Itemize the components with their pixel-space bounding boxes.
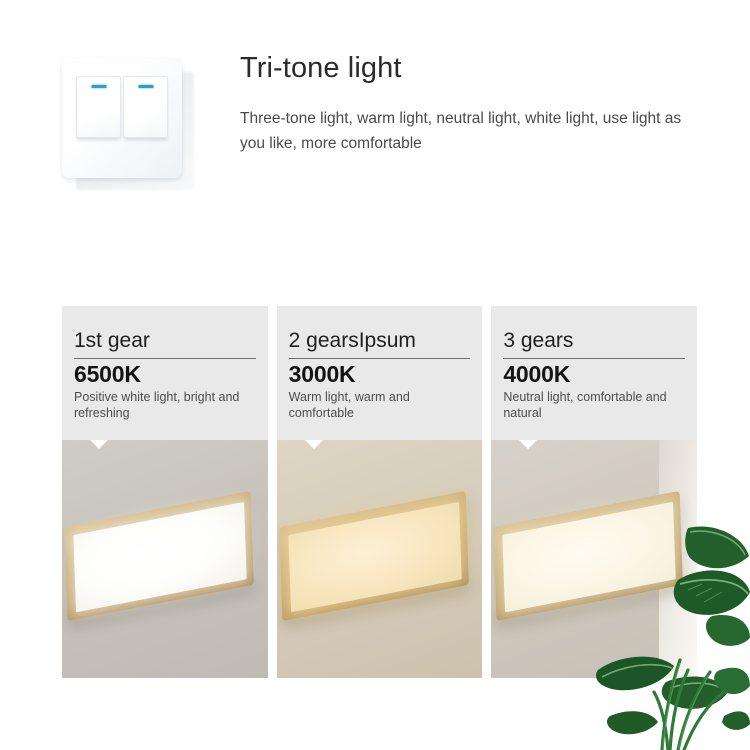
panel-text-block: 1st gear 6500K Positive white light, bri… [62, 306, 268, 440]
led-indicator-icon [91, 85, 106, 88]
header-section: Tri-tone light Three-tone light, warm li… [0, 0, 750, 230]
lamp-photo [277, 440, 483, 678]
divider-rule [289, 358, 471, 359]
pointer-triangle-icon [90, 440, 108, 449]
color-temperature-panels: 1st gear 6500K Positive white light, bri… [62, 306, 697, 678]
panel-3-gears[interactable]: 3 gears 4000K Neutral light, comfortable… [491, 306, 697, 678]
lamp-photo [62, 440, 268, 678]
switch-rocker-group[interactable] [76, 76, 168, 138]
kelvin-value: 4000K [503, 361, 685, 388]
wall-switch-icon [62, 58, 192, 188]
switch-rocker-right[interactable] [123, 76, 168, 138]
pointer-triangle-icon [519, 440, 537, 449]
led-indicator-icon [138, 85, 153, 88]
gear-label: 3 gears [503, 328, 685, 353]
switch-rocker-left[interactable] [76, 76, 121, 138]
panel-text-block: 2 gearsIpsum 3000K Warm light, warm and … [277, 306, 483, 440]
divider-rule [74, 358, 256, 359]
panel-description: Warm light, warm and comfortable [289, 389, 471, 421]
panel-text-block: 3 gears 4000K Neutral light, comfortable… [491, 306, 697, 440]
page-title: Tri-tone light [240, 52, 402, 85]
panel-description: Positive white light, bright and refresh… [74, 389, 256, 421]
panel-2-gears[interactable]: 2 gearsIpsum 3000K Warm light, warm and … [277, 306, 483, 678]
lamp-photo [491, 440, 697, 678]
divider-rule [503, 358, 685, 359]
gear-label: 1st gear [74, 328, 256, 353]
panel-1st-gear[interactable]: 1st gear 6500K Positive white light, bri… [62, 306, 268, 678]
pointer-triangle-icon [305, 440, 323, 449]
gear-label: 2 gearsIpsum [289, 328, 471, 353]
panel-description: Neutral light, comfortable and natural [503, 389, 685, 421]
kelvin-value: 3000K [289, 361, 471, 388]
page-subtitle: Three-tone light, warm light, neutral li… [240, 106, 690, 156]
kelvin-value: 6500K [74, 361, 256, 388]
